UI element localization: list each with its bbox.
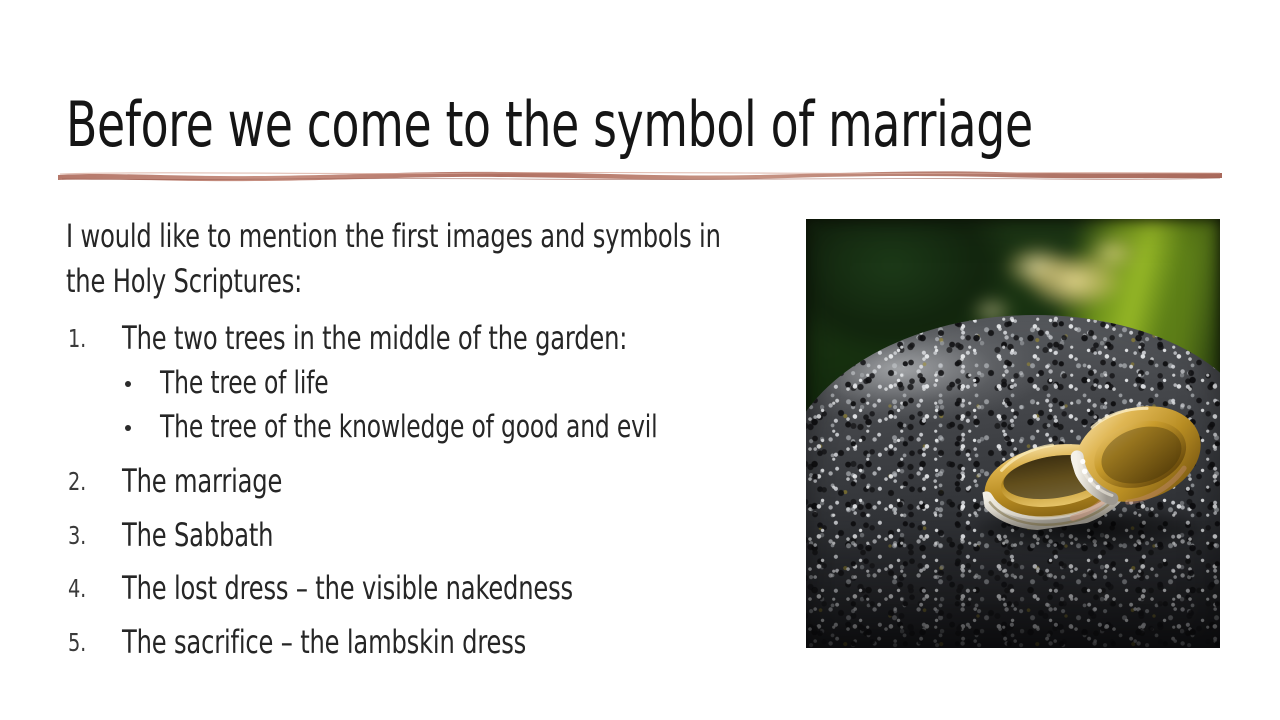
bullet-dot-icon [125,381,131,387]
sub-list-item: The tree of life [122,364,766,403]
sub-list: The tree of life The tree of the knowled… [122,364,766,448]
numbered-list: 1. The two trees in the middle of the ga… [66,318,766,663]
wedding-rings-photo [806,219,1220,648]
title-divider [56,160,1224,186]
list-item: 3. The Sabbath [66,515,766,556]
bullet-dot-icon [125,425,131,431]
list-item-text: The two trees in the middle of the garde… [122,318,766,359]
list-marker: 1. [68,323,86,355]
list-item: 2. The marriage [66,461,766,502]
list-item-text: The Sabbath [122,515,766,556]
list-marker: 5. [68,627,86,659]
sub-list-item: The tree of the knowledge of good and ev… [122,408,766,447]
list-item: 4. The lost dress – the visible nakednes… [66,568,766,609]
slide-canvas: Before we come to the symbol of marriage… [0,0,1280,720]
list-item-text: The marriage [122,461,766,502]
list-item: 5. The sacrifice – the lambskin dress [66,622,766,663]
sub-list-item-text: The tree of the knowledge of good and ev… [160,408,766,447]
page-title: Before we come to the symbol of marriage [66,92,1009,159]
list-marker: 4. [68,573,86,605]
sub-list-item-text: The tree of life [160,364,766,403]
list-item-text: The lost dress – the visible nakedness [122,568,766,609]
intro-paragraph: I would like to mention the first images… [66,214,766,305]
content-body: I would like to mention the first images… [66,214,766,663]
list-item-text: The sacrifice – the lambskin dress [122,622,766,663]
list-marker: 3. [68,520,86,552]
list-marker: 2. [68,466,86,498]
list-item: 1. The two trees in the middle of the ga… [66,318,766,448]
